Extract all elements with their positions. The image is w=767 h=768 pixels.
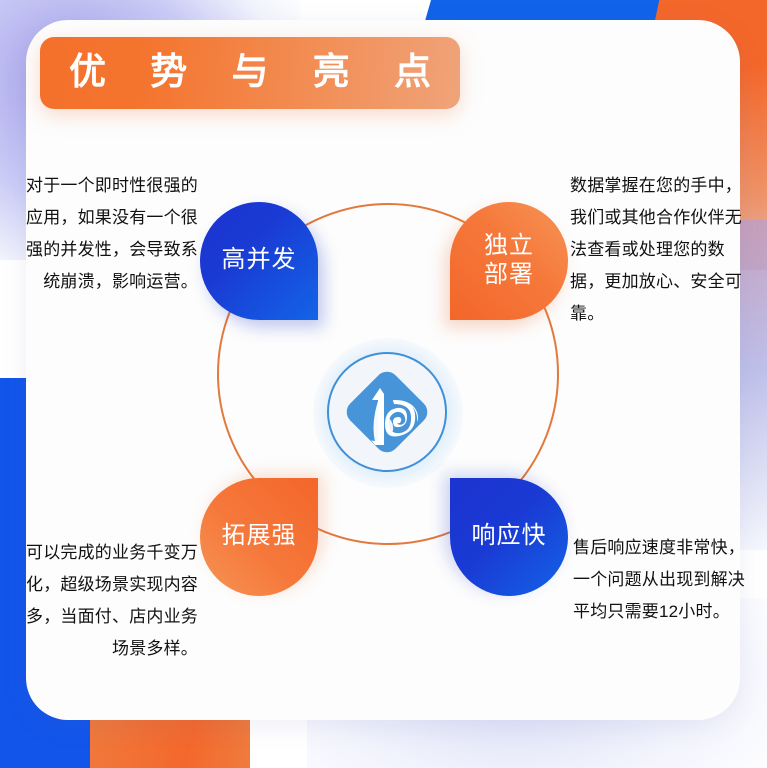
petal-label: 高并发 <box>222 245 297 276</box>
petal-label: 拓展强 <box>222 521 297 552</box>
petal-label-line1: 独立 <box>484 232 534 259</box>
description-fast-response: 售后响应速度非常快，一个问题从出现到解决平均只需要12小时。 <box>573 532 749 628</box>
title-banner: 优 势 与 亮 点 <box>40 37 460 109</box>
description-high-concurrency: 对于一个即时性很强的应用，如果没有一个很强的并发性，会导致系统崩溃，影响运营。 <box>26 170 198 298</box>
title-banner-shape: 优 势 与 亮 点 <box>40 37 460 109</box>
petal-extensibility[interactable]: 拓展强 <box>200 478 318 596</box>
petal-independent-deployment[interactable]: 独立 部署 <box>450 202 568 320</box>
petal-fast-response[interactable]: 响应快 <box>450 478 568 596</box>
page-title: 优 势 与 亮 点 <box>52 53 448 94</box>
petal-label: 响应快 <box>472 521 547 552</box>
petal-high-concurrency[interactable]: 高并发 <box>200 202 318 320</box>
petal-label: 独立 部署 <box>484 231 534 292</box>
petal-label-line2: 部署 <box>484 261 534 288</box>
brand-logo-icon <box>331 356 443 468</box>
description-extensibility: 可以完成的业务千变万化，超级场景实现内容多，当面付、店内业务场景多样。 <box>26 537 198 665</box>
brand-logo <box>327 352 447 472</box>
infographic-page: 优 势 与 亮 点 高并发 独立 部署 拓展强 响应快 对于一个即时性很强的应用… <box>0 0 767 768</box>
description-independent-deployment: 数据掌握在您的手中，我们或其他合作伙伴无法查看或处理您的数据，更加放心、安全可靠… <box>570 170 746 330</box>
